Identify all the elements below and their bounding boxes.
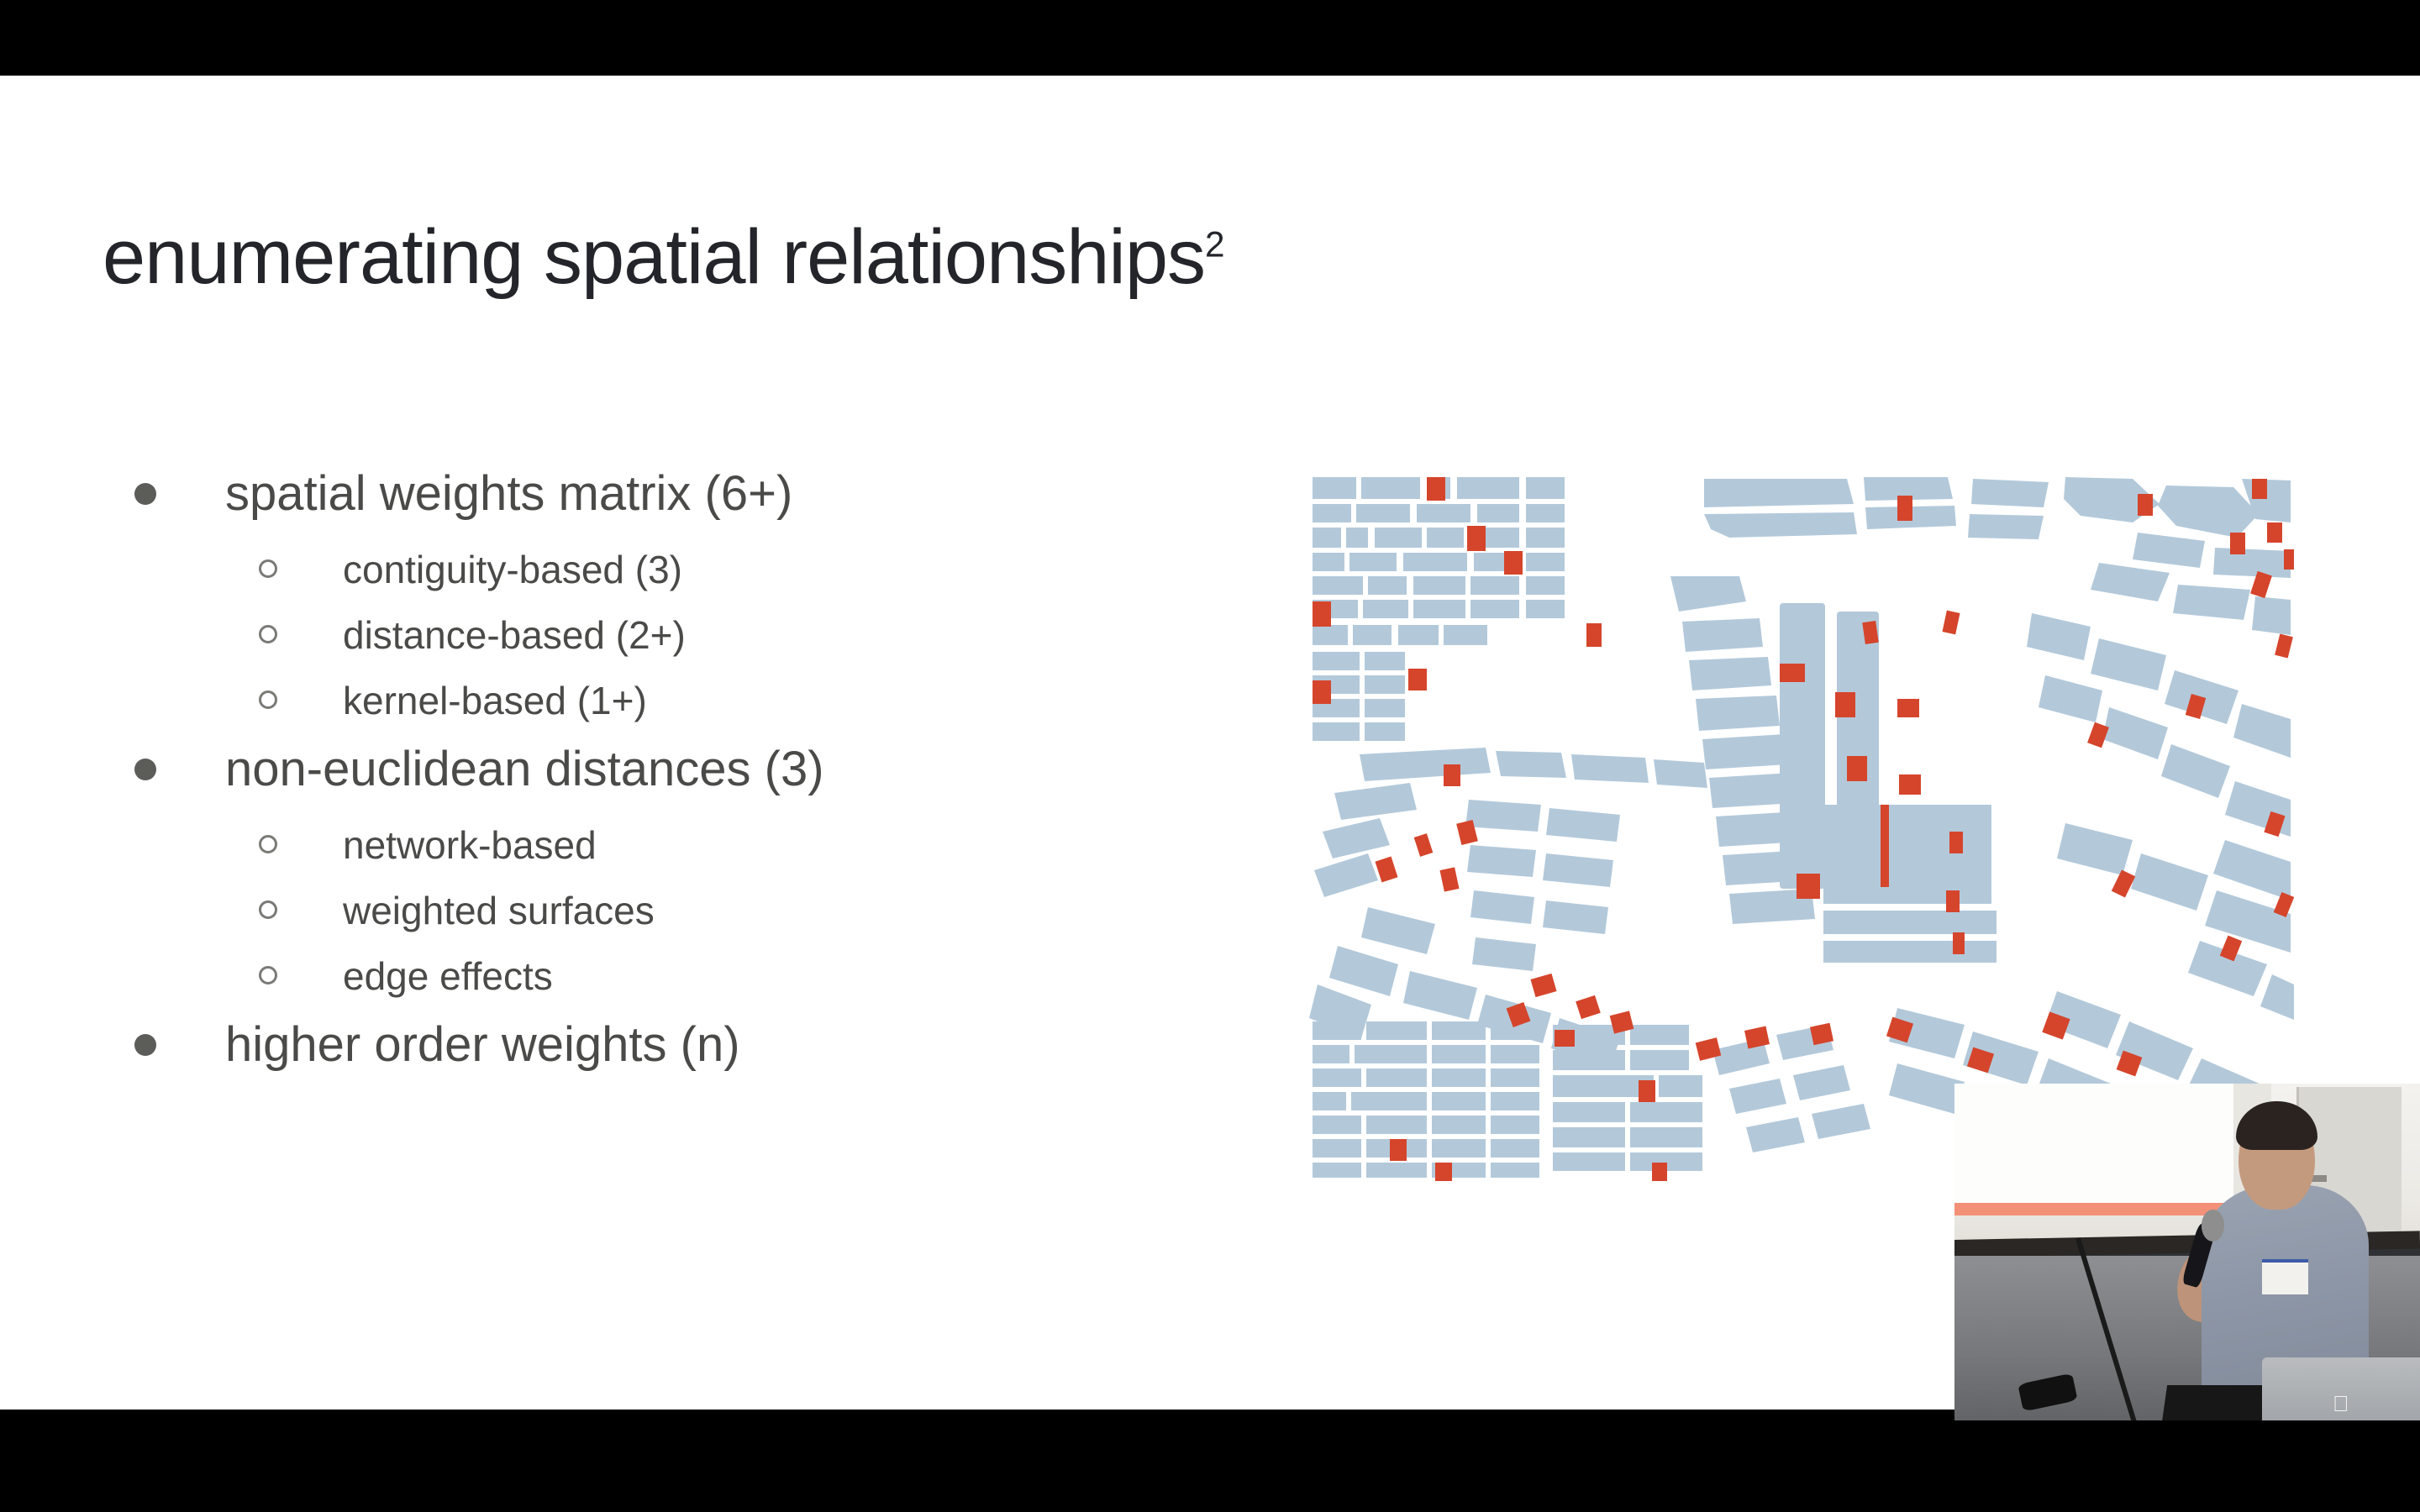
webcam-bottom-bar: [1954, 1420, 2420, 1435]
hollow-bullet-icon: [259, 690, 277, 709]
microphone-head-icon: [2202, 1210, 2225, 1242]
sub-bullet-label: network-based: [343, 812, 597, 878]
bullet-label: non-euclidean distances (3): [225, 733, 824, 806]
bullet-item-secondary: distance-based (2+): [118, 602, 1126, 668]
bullet-item-secondary: contiguity-based (3): [118, 537, 1126, 602]
hollow-bullet-icon: [259, 625, 277, 643]
sub-bullet-label: weighted surfaces: [343, 878, 655, 943]
letterbox-bottom: [0, 1435, 2420, 1512]
page-title-superscript: 2: [1205, 224, 1225, 264]
projection-screen: [1954, 1084, 2253, 1214]
page-title-text: enumerating spatial relationships: [103, 214, 1205, 300]
sub-bullet-label: contiguity-based (3): [343, 537, 682, 602]
bullet-item-secondary: network-based: [118, 812, 1126, 878]
video-player-frame: enumerating spatial relationships2 spati…: [0, 0, 2420, 1512]
hollow-bullet-icon: [259, 900, 277, 919]
page-title: enumerating spatial relationships2: [103, 218, 1225, 296]
hollow-bullet-icon: [259, 559, 277, 578]
hollow-bullet-icon: [259, 835, 277, 853]
sub-bullet-label: kernel-based (1+): [343, 668, 647, 733]
bullet-item-primary: higher order weights (n): [118, 1009, 1126, 1081]
sub-bullet-label: distance-based (2+): [343, 602, 686, 668]
apple-logo-icon: : [2332, 1393, 2350, 1415]
bullet-item-primary: spatial weights matrix (6+): [118, 458, 1126, 530]
bullet-list: spatial weights matrix (6+) contiguity-b…: [118, 458, 1126, 1088]
filled-bullet-icon: [134, 759, 156, 780]
filled-bullet-icon: [134, 483, 156, 505]
bullet-item-primary: non-euclidean distances (3): [118, 733, 1126, 806]
bullet-label: higher order weights (n): [225, 1009, 740, 1081]
letterbox-top: [0, 0, 2420, 76]
presenter-webcam-overlay[interactable]: : [1954, 1084, 2420, 1435]
filled-bullet-icon: [134, 1034, 156, 1056]
bullet-label: spatial weights matrix (6+): [225, 458, 792, 530]
bullet-item-secondary: kernel-based (1+): [118, 668, 1126, 733]
sub-bullet-label: edge effects: [343, 943, 553, 1009]
bullet-item-secondary: edge effects: [118, 943, 1126, 1009]
hollow-bullet-icon: [259, 966, 277, 984]
name-badge: [2262, 1259, 2308, 1294]
bullet-item-secondary: weighted surfaces: [118, 878, 1126, 943]
